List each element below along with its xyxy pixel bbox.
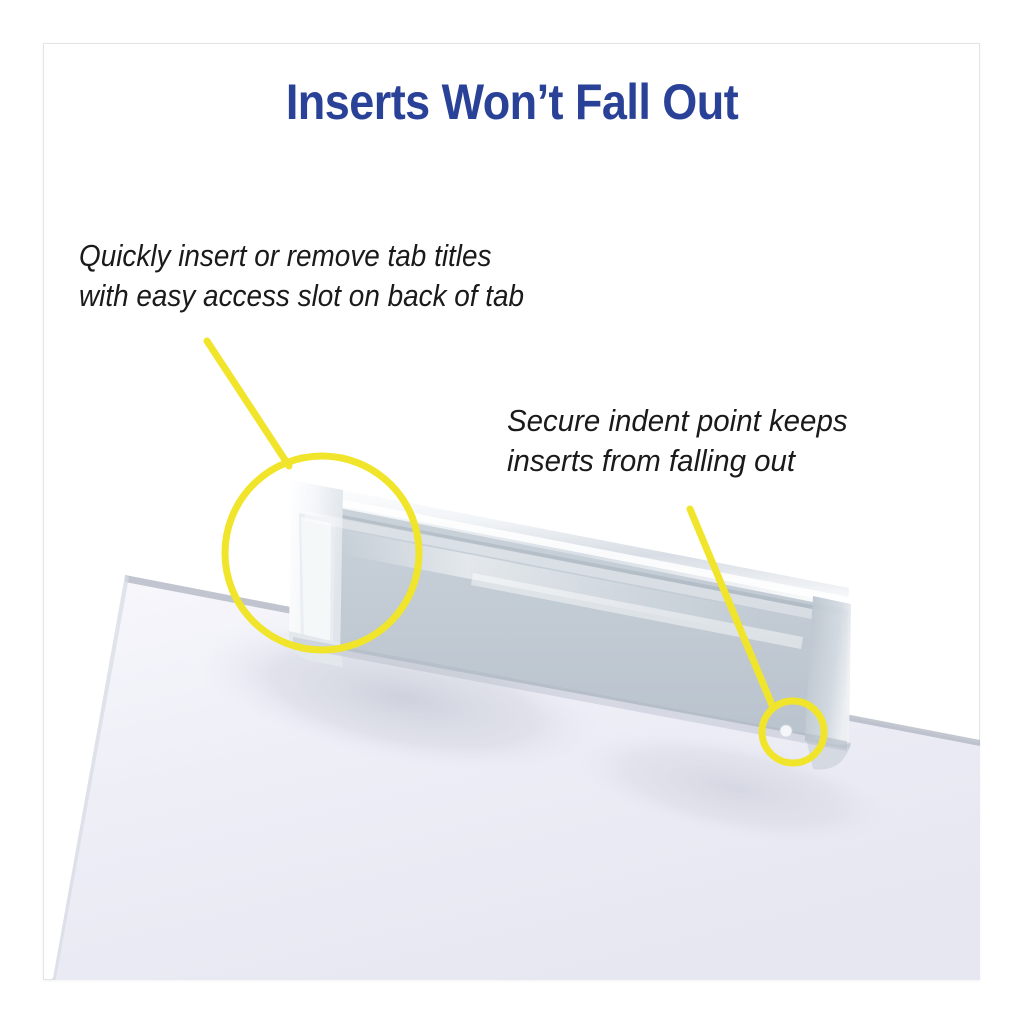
- infographic-canvas: Inserts Won’t Fall Out Quickly insert or…: [0, 0, 1024, 1024]
- callout-secure-indent-point-line2: inserts from falling out: [507, 441, 848, 481]
- page-title: Inserts Won’t Fall Out: [51, 76, 973, 129]
- callout-easy-access-slot: Quickly insert or remove tab titles with…: [79, 236, 524, 317]
- callout-easy-access-slot-line1: Quickly insert or remove tab titles: [79, 236, 524, 276]
- callout-secure-indent-point: Secure indent point keeps inserts from f…: [507, 401, 848, 482]
- product-photo: [43, 43, 980, 980]
- callout-secure-indent-point-line1: Secure indent point keeps: [507, 401, 848, 441]
- callout-easy-access-slot-line2: with easy access slot on back of tab: [79, 276, 524, 316]
